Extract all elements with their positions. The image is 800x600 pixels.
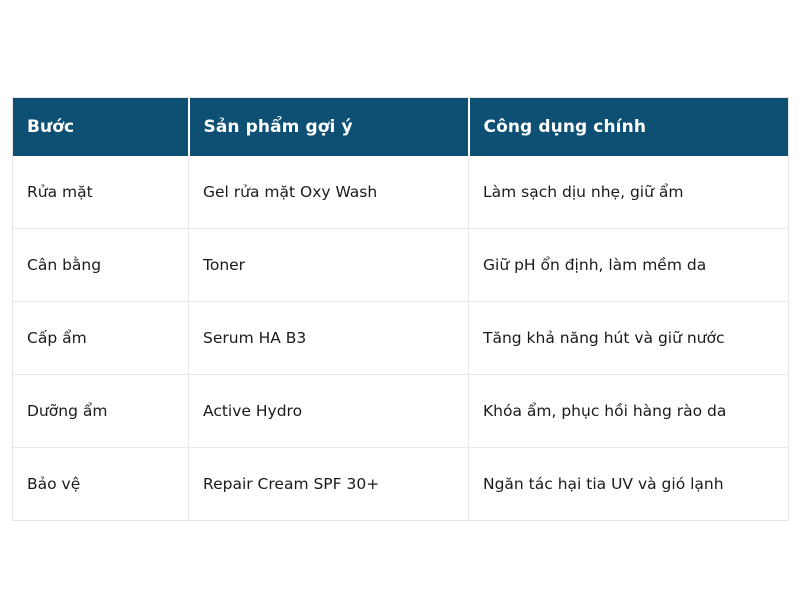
cell-benefit: Ngăn tác hại tia UV và gió lạnh — [469, 448, 789, 521]
cell-product: Active Hydro — [189, 375, 469, 448]
column-header-step: Bước — [13, 98, 189, 156]
cell-benefit: Làm sạch dịu nhẹ, giữ ẩm — [469, 156, 789, 229]
cell-step: Rửa mặt — [13, 156, 189, 229]
table-row: Dưỡng ẩm Active Hydro Khóa ẩm, phục hồi … — [13, 375, 789, 448]
cell-benefit: Tăng khả năng hút và giữ nước — [469, 302, 789, 375]
skincare-routine-table: Bước Sản phẩm gợi ý Công dụng chính Rửa … — [12, 97, 789, 521]
cell-step: Cấp ẩm — [13, 302, 189, 375]
table-row: Rửa mặt Gel rửa mặt Oxy Wash Làm sạch dị… — [13, 156, 789, 229]
page-root: Bước Sản phẩm gợi ý Công dụng chính Rửa … — [0, 0, 800, 600]
column-header-product: Sản phẩm gợi ý — [189, 98, 469, 156]
cell-product: Gel rửa mặt Oxy Wash — [189, 156, 469, 229]
table-row: Cấp ẩm Serum HA B3 Tăng khả năng hút và … — [13, 302, 789, 375]
cell-product: Serum HA B3 — [189, 302, 469, 375]
routine-table-container: Bước Sản phẩm gợi ý Công dụng chính Rửa … — [12, 97, 788, 521]
table-row: Cân bằng Toner Giữ pH ổn định, làm mềm d… — [13, 229, 789, 302]
table-body: Rửa mặt Gel rửa mặt Oxy Wash Làm sạch dị… — [13, 156, 789, 521]
cell-product: Toner — [189, 229, 469, 302]
cell-benefit: Giữ pH ổn định, làm mềm da — [469, 229, 789, 302]
cell-product: Repair Cream SPF 30+ — [189, 448, 469, 521]
cell-benefit: Khóa ẩm, phục hồi hàng rào da — [469, 375, 789, 448]
cell-step: Bảo vệ — [13, 448, 189, 521]
table-row: Bảo vệ Repair Cream SPF 30+ Ngăn tác hại… — [13, 448, 789, 521]
table-header: Bước Sản phẩm gợi ý Công dụng chính — [13, 98, 789, 156]
column-header-benefit: Công dụng chính — [469, 98, 789, 156]
cell-step: Dưỡng ẩm — [13, 375, 189, 448]
cell-step: Cân bằng — [13, 229, 189, 302]
table-header-row: Bước Sản phẩm gợi ý Công dụng chính — [13, 98, 789, 156]
